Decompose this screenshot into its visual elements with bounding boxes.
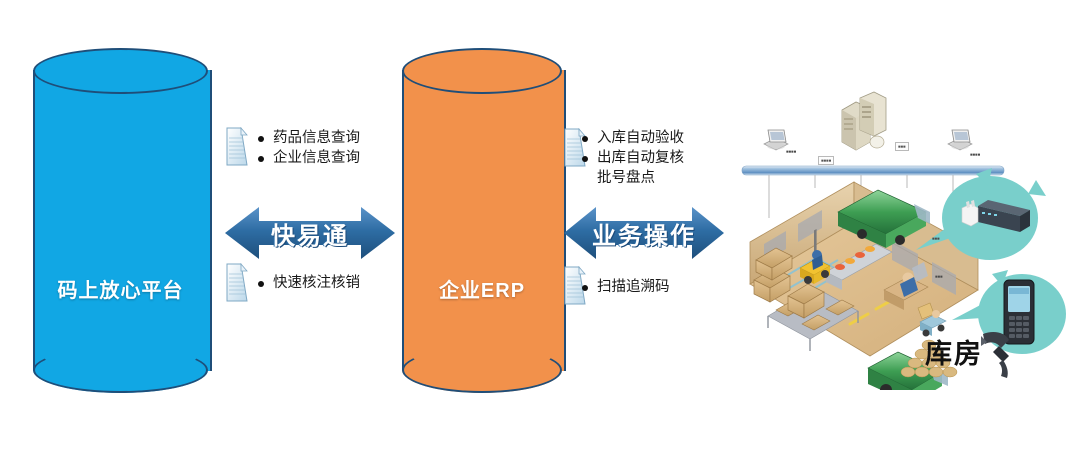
cylinder-top-ellipse: [402, 48, 562, 94]
bullet-dot: [258, 156, 264, 162]
list-item: 入库自动验收: [580, 128, 684, 148]
list-item: 出库自动复核: [580, 148, 684, 168]
connector-kuaiyitong-label: 快易通: [225, 205, 395, 261]
network-node-label: ■■■: [895, 142, 909, 151]
warehouse-illustration: ■■■■ ■■■■ ■■■ ■■■■ ■■■ ■■■: [740, 70, 1080, 390]
bullet-dot: [582, 156, 588, 162]
warehouse-scene-svg: [740, 70, 1080, 390]
list-item: 药品信息查询: [256, 128, 360, 148]
cylinder-body: [402, 70, 566, 371]
network-node-label: ■■■■: [818, 156, 834, 165]
pc-workstation-icon: [764, 130, 788, 150]
document-icon: [224, 263, 250, 303]
right-notes-above: 入库自动验收 出库自动复核 批号盘点: [580, 128, 684, 188]
right-notes-below: 扫描追溯码: [580, 277, 670, 297]
connector-yewucaozuo[interactable]: 业务操作: [564, 205, 724, 261]
pc-workstation-icon: [948, 130, 972, 150]
list-item: 扫描追溯码: [580, 277, 670, 297]
document-icon: [224, 127, 250, 167]
left-notes-below: 快速核注核销: [256, 273, 360, 293]
network-node-label: ■■■: [932, 236, 940, 241]
bullet-dot: [582, 285, 588, 291]
server-icon: [842, 92, 886, 150]
handheld-pda-icon: [1004, 280, 1034, 344]
list-item: 企业信息查询: [256, 148, 360, 168]
list-item: 批号盘点: [580, 168, 684, 188]
network-node-label: ■■■: [935, 274, 943, 279]
node-platform-label: 码上放心平台: [33, 274, 208, 303]
bullet-dot: [258, 281, 264, 287]
node-erp-cylinder[interactable]: 企业ERP: [402, 48, 562, 393]
list-item: 快速核注核销: [256, 273, 360, 293]
node-erp-label: 企业ERP: [402, 274, 562, 303]
warehouse-label: 库房: [925, 332, 983, 371]
connector-kuaiyitong[interactable]: 快易通: [225, 205, 395, 261]
cylinder-bottom-edge: [33, 347, 208, 393]
node-platform-cylinder[interactable]: 码上放心平台: [33, 48, 208, 393]
bullet-dot: [582, 136, 588, 142]
connector-yewucaozuo-label: 业务操作: [564, 205, 724, 261]
left-notes-above: 药品信息查询 企业信息查询: [256, 128, 360, 168]
network-node-label: ■■■■: [970, 152, 980, 157]
network-node-label: ■■■■: [786, 149, 796, 154]
barcode-scanner-icon: [981, 332, 1009, 378]
cylinder-bottom-edge: [402, 347, 562, 393]
bullet-dot: [258, 136, 264, 142]
cylinder-top-ellipse: [33, 48, 208, 94]
diagram-canvas: 码上放心平台 企业ERP 药品信息查询 企业信息查询: [0, 0, 1080, 451]
cylinder-body: [33, 70, 212, 371]
